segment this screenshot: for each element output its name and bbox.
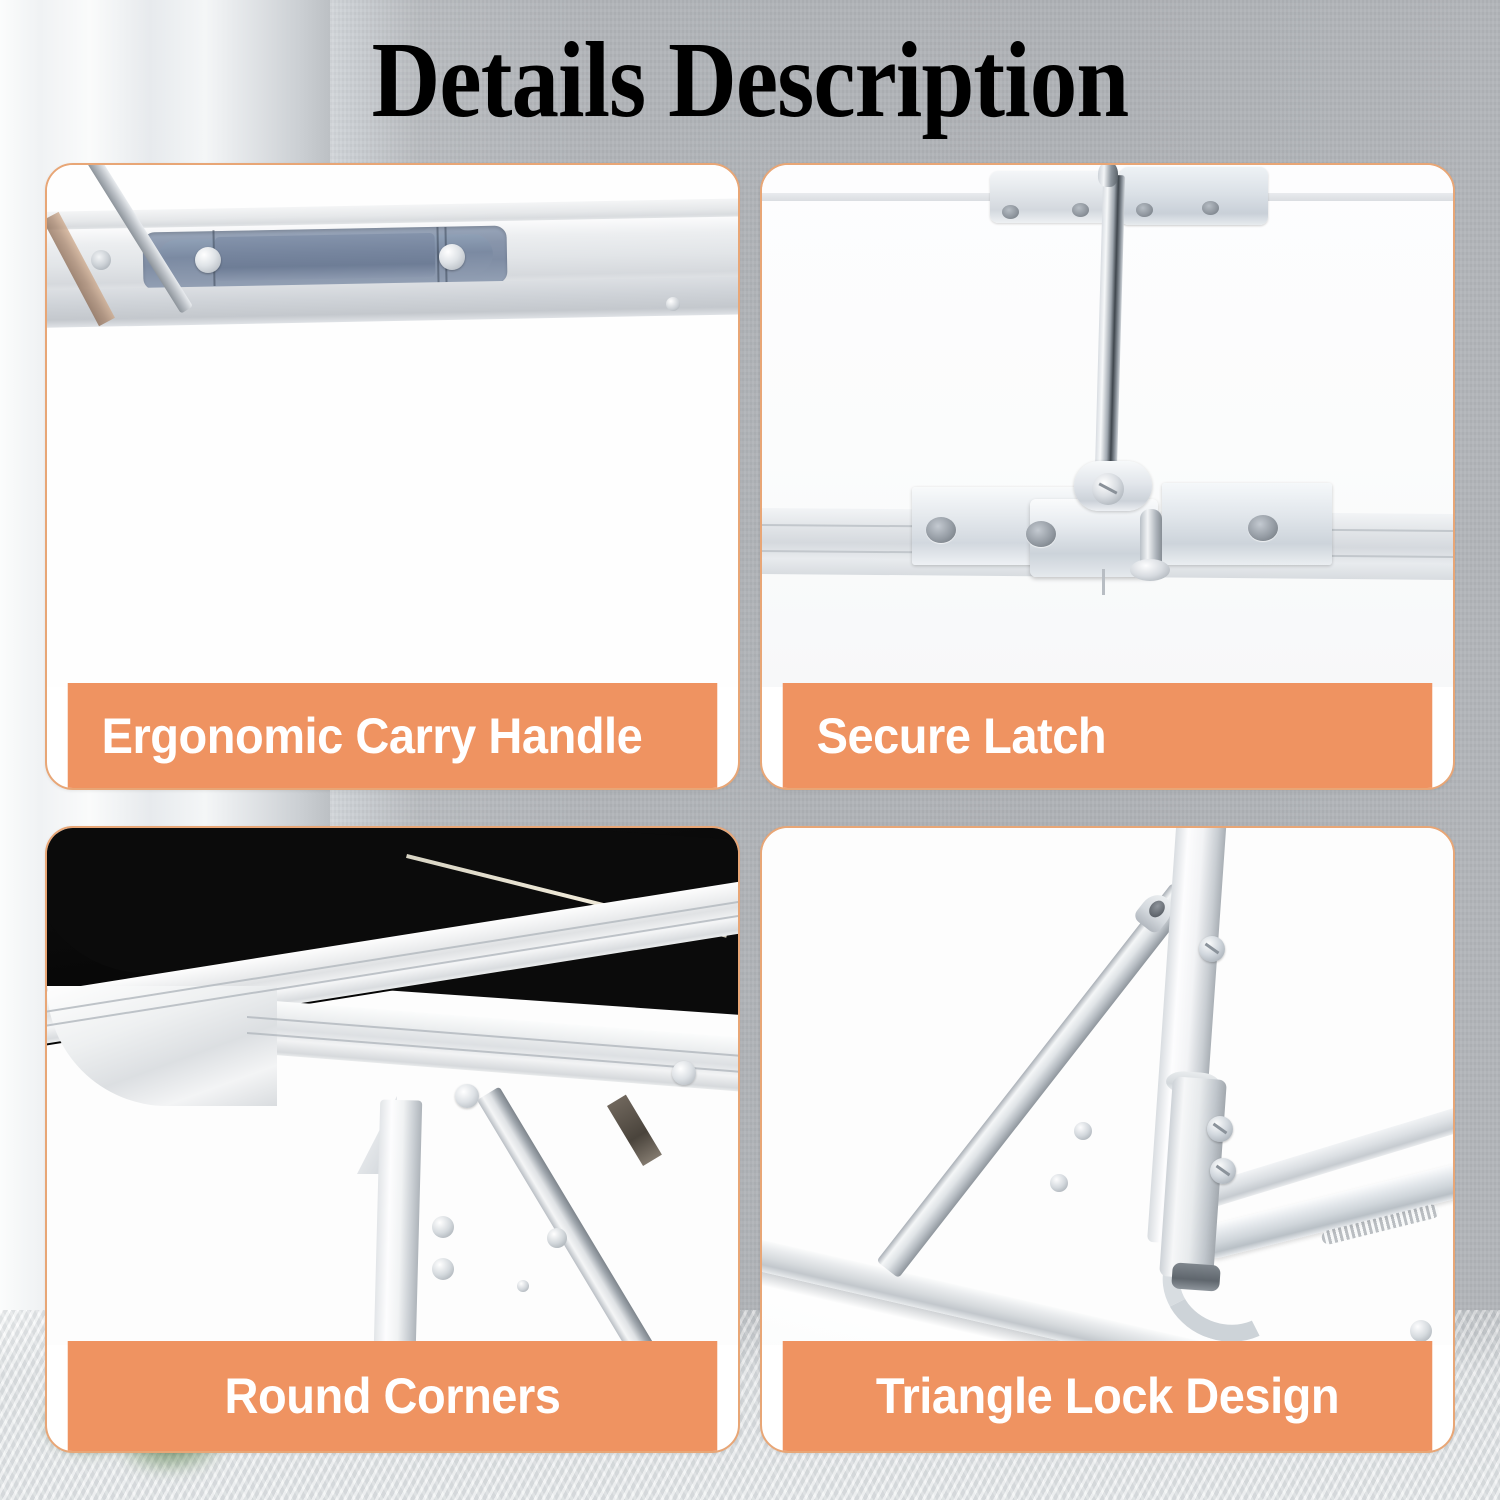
leg-height-button-1 [432,1216,454,1238]
edge-screw-2 [672,1061,696,1085]
caption-secure-latch: Secure Latch [783,683,1433,788]
feature-card-round-corners[interactable]: Round Corners [45,826,740,1453]
carry-handle-grip [215,233,436,281]
latch-hole-left [926,517,956,543]
photo-secure-latch [762,165,1453,687]
caption-triangle-lock-design: Triangle Lock Design [783,1341,1433,1451]
table-leg-tube [374,1099,422,1345]
leg-screw-low [1210,1158,1236,1184]
rod-top-eyelet [1098,165,1119,187]
handle-screw-left [195,247,221,273]
feature-card-secure-latch[interactable]: Secure Latch [760,163,1455,790]
frame-corner-screw [1410,1320,1432,1342]
leg-screw-mid [1207,1116,1233,1142]
feature-card-grid: Ergonomic Carry Handle [45,163,1455,1473]
brace-rivet-upper [1074,1122,1092,1140]
photo-round-corners [47,828,738,1345]
brace-rivet-lower [1050,1174,1068,1192]
leg-foot-cap [1171,1262,1221,1291]
brace-rivet-1 [547,1228,567,1248]
caption-label: Secure Latch [817,707,1107,765]
photo-triangle-lock-design [762,828,1453,1345]
hinge-hole-1 [1002,205,1019,219]
caption-label: Triangle Lock Design [876,1367,1339,1425]
caption-label: Ergonomic Carry Handle [102,707,643,765]
panel-seam [1102,569,1105,595]
infographic-page: Details Description [0,0,1500,1500]
brace-rivet-2 [517,1280,529,1292]
diagonal-brace-shadow [607,1095,662,1166]
hinge-hole-3 [1136,203,1153,217]
handle-screw-right [439,244,465,270]
rail-screw [91,250,111,270]
pivot-screw [1092,473,1124,505]
caption-ergonomic-carry-handle: Ergonomic Carry Handle [68,683,718,788]
leg-height-button-2 [432,1258,454,1280]
page-title: Details Description [90,22,1410,140]
caption-round-corners: Round Corners [68,1341,718,1451]
hinge-hole-2 [1072,203,1089,217]
latch-hole-center [1026,521,1056,547]
edge-screw-1 [455,1084,479,1108]
triangle-lock-brace [876,883,1194,1278]
latch-hole-right [1248,515,1278,541]
feature-card-ergonomic-carry-handle[interactable]: Ergonomic Carry Handle [45,163,740,790]
photo-ergonomic-carry-handle [47,165,738,687]
caption-label: Round Corners [225,1367,561,1425]
latch-plate-right [1162,483,1332,565]
feature-card-triangle-lock-design[interactable]: Triangle Lock Design [760,826,1455,1453]
latch-pin-cap [1130,559,1170,581]
leg-screw-top [1199,936,1225,962]
hinge-hole-4 [1202,201,1219,215]
